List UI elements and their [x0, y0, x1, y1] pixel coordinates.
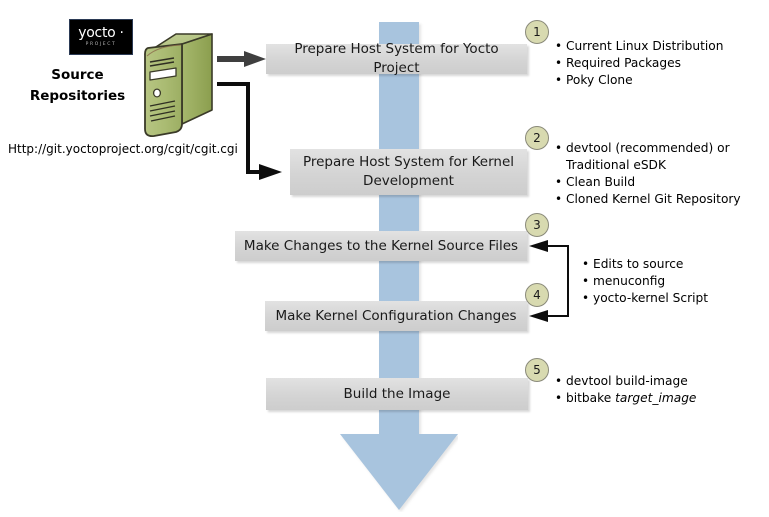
- source-label-line-1: Source: [20, 65, 135, 86]
- server-tower-icon: [134, 32, 220, 138]
- feedback-bracket-step3-step4: [529, 240, 568, 322]
- bitbake-target-image-variable: target_image: [615, 391, 696, 405]
- process-box-step-1[interactable]: Prepare Host System for Yocto Project: [266, 44, 527, 74]
- yocto-logo-wordmark: yocto ·: [78, 26, 123, 40]
- kernel-development-flow-diagram: yocto · PROJECT Source Repositories Http…: [0, 0, 769, 517]
- step-badge-3: 3: [525, 213, 549, 237]
- bullet-list-step-1: Current Linux Distribution Required Pack…: [553, 38, 763, 89]
- process-box-step-5[interactable]: Build the Image: [266, 378, 528, 410]
- bullet-list-step-2: devtool (recommended) or Traditional eSD…: [553, 140, 768, 208]
- step-badge-1: 1: [525, 20, 549, 44]
- process-box-step-4[interactable]: Make Kernel Configuration Changes: [265, 301, 527, 331]
- step-badge-5: 5: [525, 358, 549, 382]
- arrow-server-to-step2: [217, 84, 282, 180]
- list-item: Clean Build: [566, 174, 768, 191]
- list-item: bitbake target_image: [566, 390, 763, 407]
- yocto-logo-subtext: PROJECT: [86, 41, 117, 48]
- bitbake-command-prefix: bitbake: [566, 391, 615, 405]
- yocto-project-logo: yocto · PROJECT: [69, 19, 133, 55]
- list-item: Required Packages: [566, 55, 763, 72]
- bullet-list-step-5: devtool build-image bitbake target_image: [553, 373, 763, 407]
- source-repositories-label: Source Repositories: [20, 65, 135, 107]
- arrow-server-to-step1: [217, 51, 266, 67]
- list-item: yocto-kernel Script: [593, 290, 765, 307]
- source-repository-url: Http://git.yoctoproject.org/cgit/cgit.cg…: [8, 142, 238, 156]
- list-item: Poky Clone: [566, 72, 763, 89]
- list-item: Edits to source: [593, 256, 765, 273]
- list-item: Cloned Kernel Git Repository: [566, 191, 768, 208]
- process-box-step-2[interactable]: Prepare Host System for Kernel Developme…: [290, 149, 527, 195]
- main-flow-arrow: [340, 22, 458, 512]
- source-label-line-2: Repositories: [20, 86, 135, 107]
- step-badge-4: 4: [525, 283, 549, 307]
- list-item: devtool build-image: [566, 373, 763, 390]
- list-item: Current Linux Distribution: [566, 38, 763, 55]
- list-item: devtool (recommended) or Traditional eSD…: [566, 140, 768, 174]
- step-badge-2: 2: [525, 126, 549, 150]
- bullet-list-steps-3-and-4: Edits to source menuconfig yocto-kernel …: [580, 256, 765, 307]
- list-item: menuconfig: [593, 273, 765, 290]
- process-box-step-3[interactable]: Make Changes to the Kernel Source Files: [235, 231, 527, 261]
